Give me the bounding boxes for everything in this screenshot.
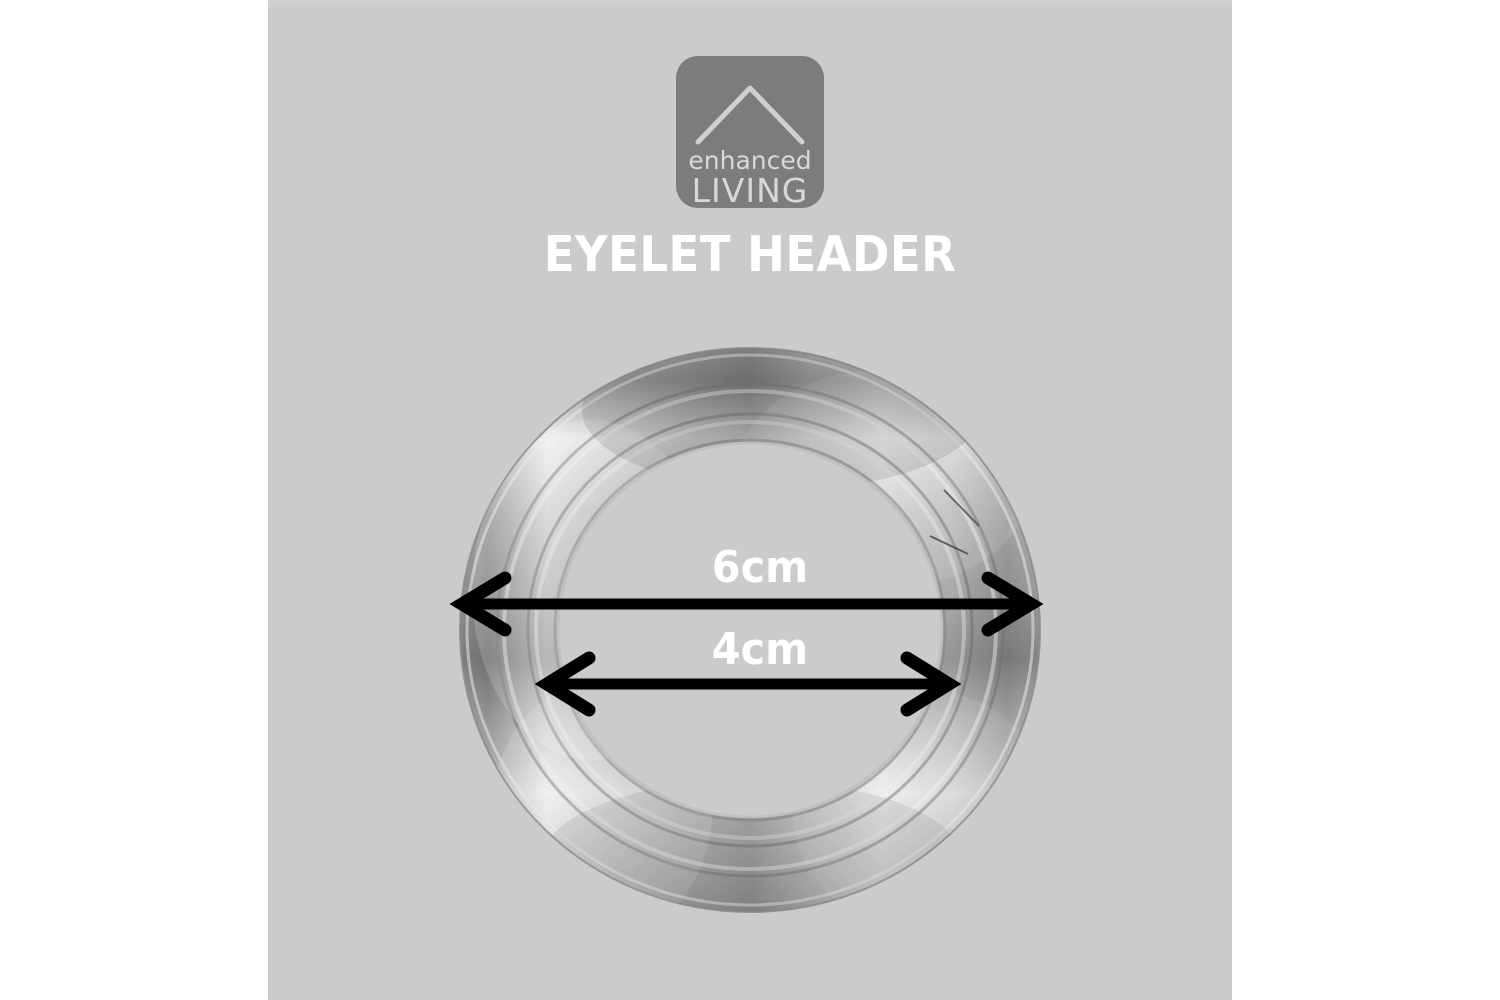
logo-wordmark: enhanced LIVING [676,148,824,207]
inner-dimension-label: 4cm [572,624,948,675]
panel-top-sheen [268,0,1232,10]
outer-dimension-label: 6cm [572,542,948,593]
logo-word-enhanced: enhanced [676,148,824,173]
logo-word-living: LIVING [676,174,824,207]
roof-chevron-icon [676,64,824,150]
product-image-canvas: enhanced LIVING EYELET HEADER [0,0,1500,1000]
page-title: EYELET HEADER [307,226,1194,283]
enhanced-living-logo: enhanced LIVING [676,56,824,208]
